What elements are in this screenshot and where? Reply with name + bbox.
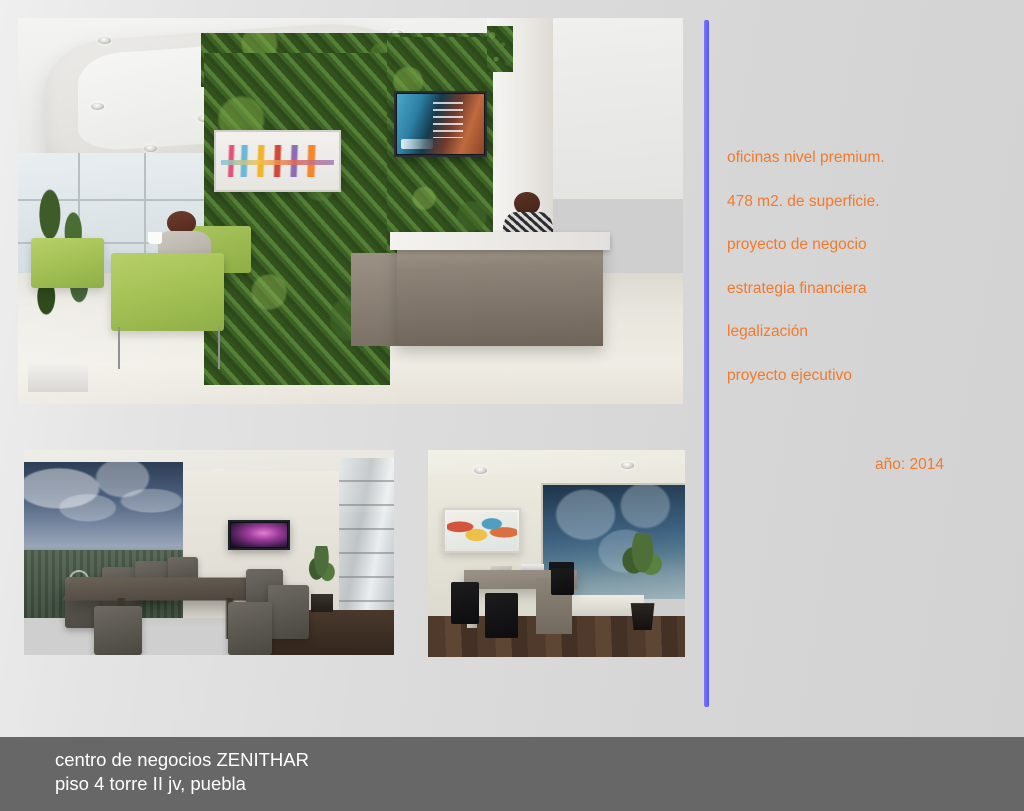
office-visitor-chair — [451, 582, 479, 623]
boardroom-image — [24, 450, 394, 655]
spec-item: legalización — [727, 324, 1017, 340]
ceiling-downlight-icon — [91, 103, 104, 110]
chair-leg — [118, 327, 120, 369]
spec-item: proyecto ejecutivo — [727, 368, 1017, 384]
chair-leg — [218, 327, 220, 369]
lobby-display-screen — [394, 91, 487, 157]
spec-item: estrategia financiera — [727, 281, 1017, 297]
boardroom-chair — [94, 606, 142, 655]
office-wall-artwork — [443, 508, 520, 554]
screen-logo — [401, 139, 433, 149]
lobby-wall-artwork — [214, 130, 340, 192]
footer-text: centro de negocios ZENITHAR piso 4 torre… — [55, 748, 309, 797]
spec-list: oficinas nivel premium. 478 m2. de super… — [727, 150, 1017, 411]
window-clouds — [24, 462, 183, 549]
screen-image — [231, 523, 288, 548]
reception-desk-counter — [390, 232, 609, 249]
spec-item: 478 m2. de superficie. — [727, 194, 1017, 210]
screen-text-lines — [433, 102, 463, 138]
spec-item: oficinas nivel premium. — [727, 150, 1017, 166]
presentation-slide: oficinas nivel premium. 478 m2. de super… — [0, 0, 1024, 811]
reception-lobby-image — [18, 18, 683, 404]
project-title: centro de negocios ZENITHAR — [55, 748, 309, 772]
lounge-chair — [111, 253, 224, 330]
boardroom-chair — [268, 585, 309, 638]
reception-desk — [397, 238, 603, 346]
office-potted-tree — [621, 533, 665, 595]
boardroom-potted-tree — [305, 546, 338, 599]
lobby-planter-box — [28, 362, 88, 393]
artwork-color-band — [221, 160, 334, 165]
project-location: piso 4 torre II jv, puebla — [55, 772, 309, 796]
lounge-chair — [31, 238, 104, 288]
vertical-divider — [704, 20, 709, 707]
private-office-image — [428, 450, 685, 657]
office-desk-chair — [551, 568, 574, 595]
boardroom-display-screen — [228, 520, 291, 551]
ceiling-downlight-icon — [474, 467, 487, 474]
office-visitor-chair — [485, 593, 518, 639]
coffee-cup — [148, 232, 161, 244]
green-living-wall — [487, 26, 514, 72]
spec-item: proyecto de negocio — [727, 237, 1017, 253]
project-year: año: 2014 — [875, 456, 944, 474]
artwork-image — [447, 512, 516, 550]
boardroom-planter-pot — [311, 594, 333, 612]
boardroom-chair — [228, 602, 272, 655]
footer-bar: centro de negocios ZENITHAR piso 4 torre… — [0, 737, 1024, 811]
